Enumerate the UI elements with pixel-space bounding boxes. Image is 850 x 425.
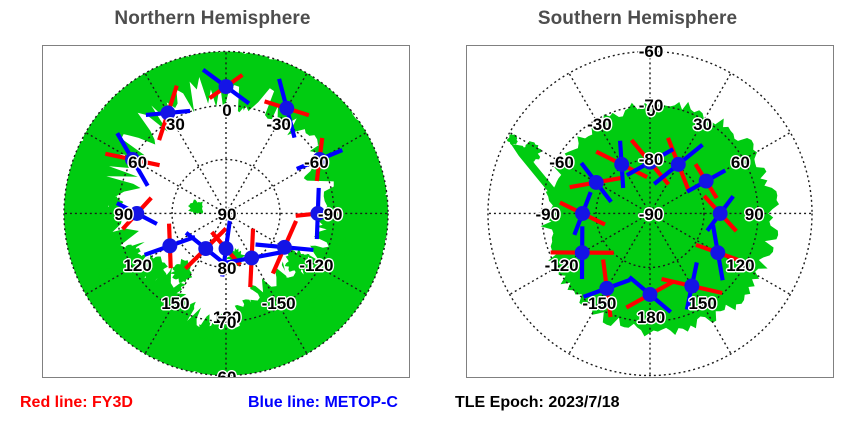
page-title-south: Southern Hemisphere — [425, 8, 850, 30]
page-title-north: Northern Hemisphere — [0, 8, 425, 30]
polar-plot-north — [43, 46, 409, 377]
polar-plot-south — [467, 46, 833, 377]
legend-red-line: Red line: FY3D — [20, 394, 133, 412]
figure-root: Northern Hemisphere 180-150-120-90-60-30… — [0, 0, 850, 425]
legend-blue-line: Blue line: METOP-C — [248, 394, 398, 412]
landmass-layer — [507, 102, 779, 336]
landmass-layer — [58, 46, 396, 377]
plot-area-north: 180-150-120-90-60-3003060901201509080706… — [42, 45, 410, 378]
legend-tle-epoch: TLE Epoch: 2023/7/18 — [455, 394, 620, 412]
plot-area-south: 180-150-120-90-60-300306090120150-90-80-… — [466, 45, 834, 378]
legend: Red line: FY3D Blue line: METOP-C TLE Ep… — [0, 390, 850, 425]
